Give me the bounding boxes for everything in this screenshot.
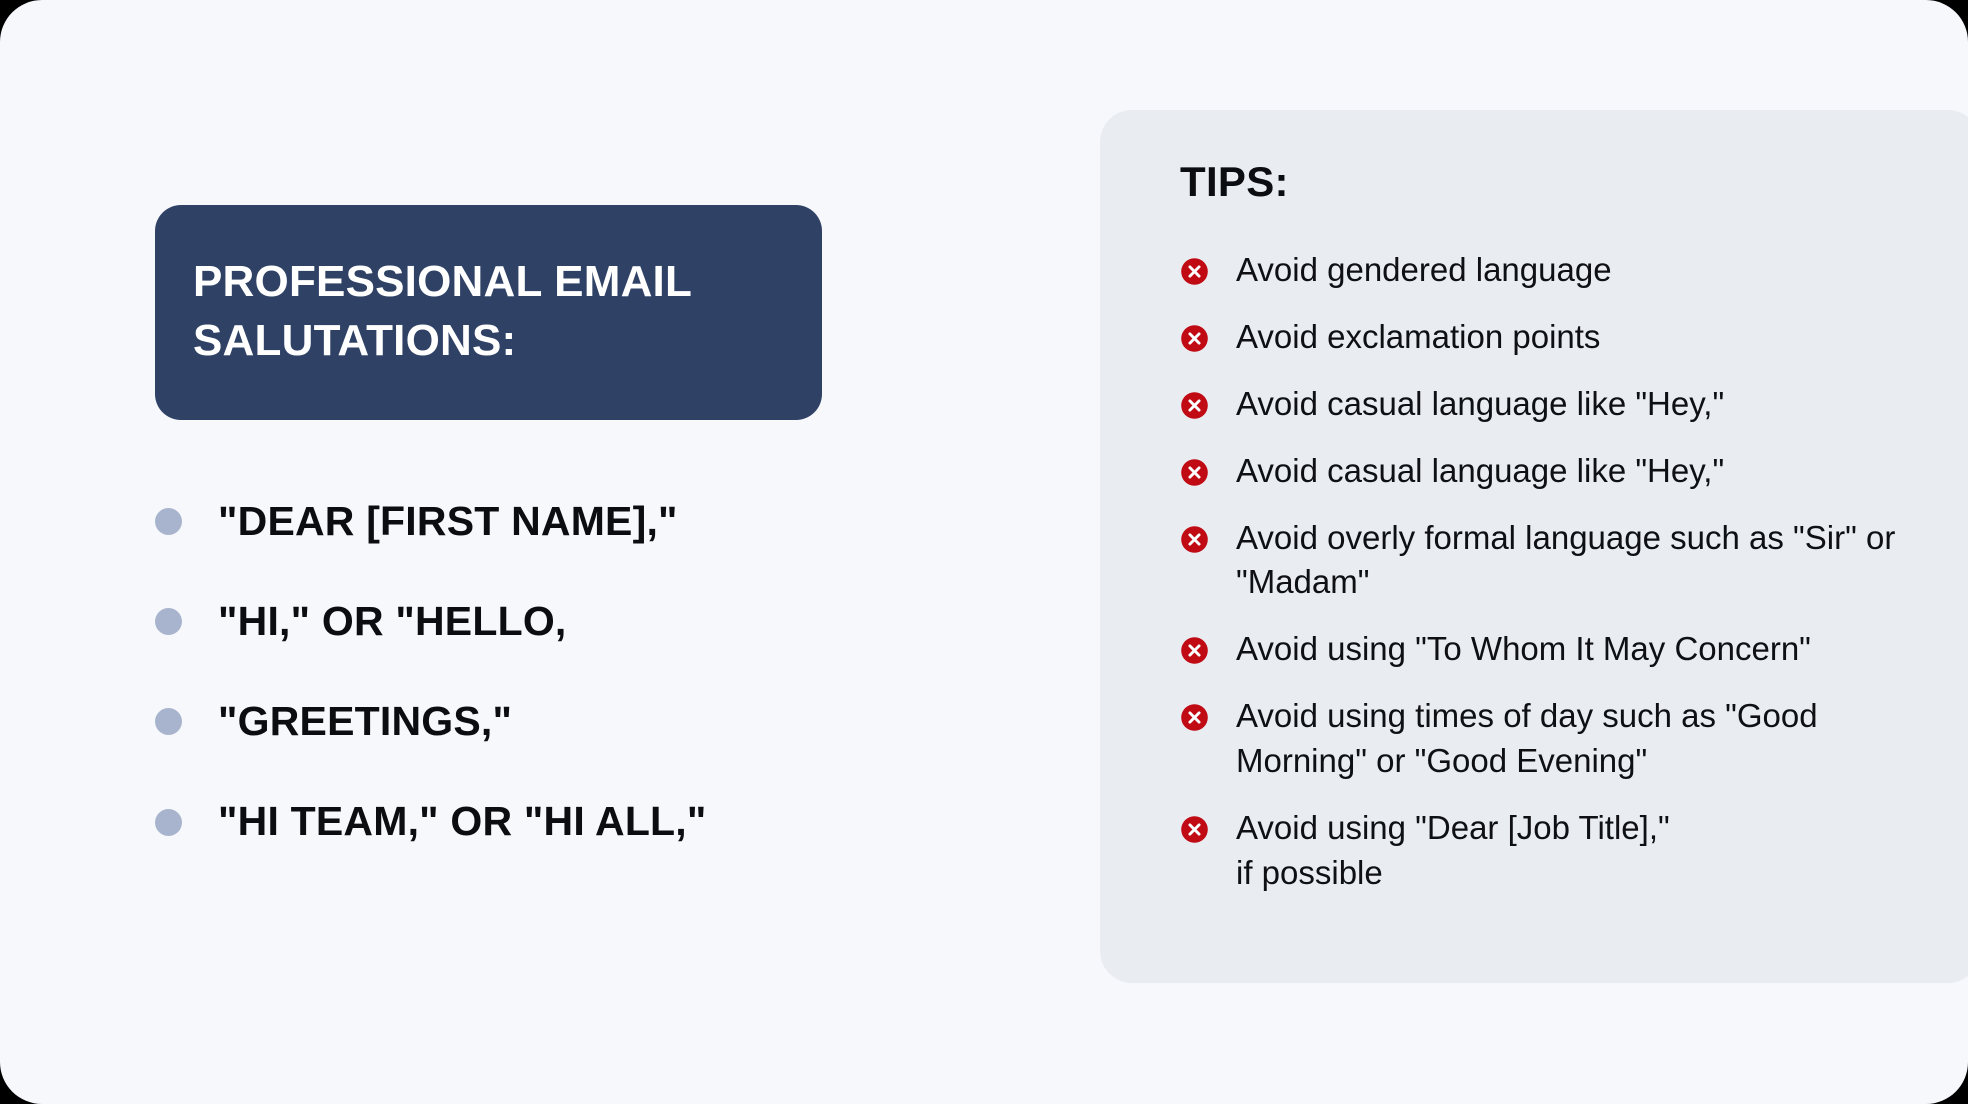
salutation-label: "DEAR [FIRST NAME]," bbox=[218, 498, 678, 545]
tips-heading: TIPS: bbox=[1180, 158, 1940, 206]
list-item: "DEAR [FIRST NAME]," bbox=[155, 498, 955, 545]
salutation-label: "GREETINGS," bbox=[218, 698, 512, 745]
tip-text: Avoid using "Dear [Job Title]," if possi… bbox=[1236, 806, 1670, 896]
tip-text: Avoid gendered language bbox=[1236, 248, 1612, 293]
list-item: Avoid using times of day such as "Good M… bbox=[1180, 694, 1940, 784]
salutations-column: PROFESSIONAL EMAIL SALUTATIONS: "DEAR [F… bbox=[155, 205, 955, 846]
section-title-badge: PROFESSIONAL EMAIL SALUTATIONS: bbox=[155, 205, 822, 420]
salutation-label: "HI," OR "HELLO, bbox=[218, 598, 567, 645]
x-circle-icon bbox=[1180, 391, 1209, 420]
x-circle-icon bbox=[1180, 703, 1209, 732]
tip-text: Avoid using times of day such as "Good M… bbox=[1236, 694, 1916, 784]
x-circle-icon bbox=[1180, 458, 1209, 487]
tip-text: Avoid casual language like "Hey," bbox=[1236, 449, 1724, 494]
page-title: PROFESSIONAL EMAIL SALUTATIONS: bbox=[193, 253, 784, 370]
bullet-dot-icon bbox=[155, 608, 182, 635]
list-item: Avoid using "To Whom It May Concern" bbox=[1180, 627, 1940, 672]
tip-text: Avoid using "To Whom It May Concern" bbox=[1236, 627, 1811, 672]
x-circle-icon bbox=[1180, 525, 1209, 554]
list-item: Avoid overly formal language such as "Si… bbox=[1180, 516, 1940, 606]
bullet-dot-icon bbox=[155, 809, 182, 836]
list-item: "GREETINGS," bbox=[155, 698, 955, 745]
list-item: "HI TEAM," OR "HI ALL," bbox=[155, 798, 955, 845]
bullet-dot-icon bbox=[155, 508, 182, 535]
list-item: Avoid casual language like "Hey," bbox=[1180, 449, 1940, 494]
tip-text: Avoid casual language like "Hey," bbox=[1236, 382, 1724, 427]
x-circle-icon bbox=[1180, 815, 1209, 844]
x-circle-icon bbox=[1180, 324, 1209, 353]
list-item: "HI," OR "HELLO, bbox=[155, 598, 955, 645]
x-circle-icon bbox=[1180, 636, 1209, 665]
tips-list: Avoid gendered language Avoid exclamatio… bbox=[1180, 248, 1940, 896]
salutation-list: "DEAR [FIRST NAME]," "HI," OR "HELLO, "G… bbox=[155, 498, 955, 846]
tip-text: Avoid overly formal language such as "Si… bbox=[1236, 516, 1916, 606]
tip-text: Avoid exclamation points bbox=[1236, 315, 1600, 360]
page-card: PROFESSIONAL EMAIL SALUTATIONS: "DEAR [F… bbox=[0, 0, 1968, 1104]
tips-panel: TIPS: Avoid gendered language bbox=[1100, 110, 1968, 983]
x-circle-icon bbox=[1180, 257, 1209, 286]
list-item: Avoid exclamation points bbox=[1180, 315, 1940, 360]
salutation-label: "HI TEAM," OR "HI ALL," bbox=[218, 798, 707, 845]
list-item: Avoid casual language like "Hey," bbox=[1180, 382, 1940, 427]
list-item: Avoid using "Dear [Job Title]," if possi… bbox=[1180, 806, 1940, 896]
list-item: Avoid gendered language bbox=[1180, 248, 1940, 293]
bullet-dot-icon bbox=[155, 708, 182, 735]
